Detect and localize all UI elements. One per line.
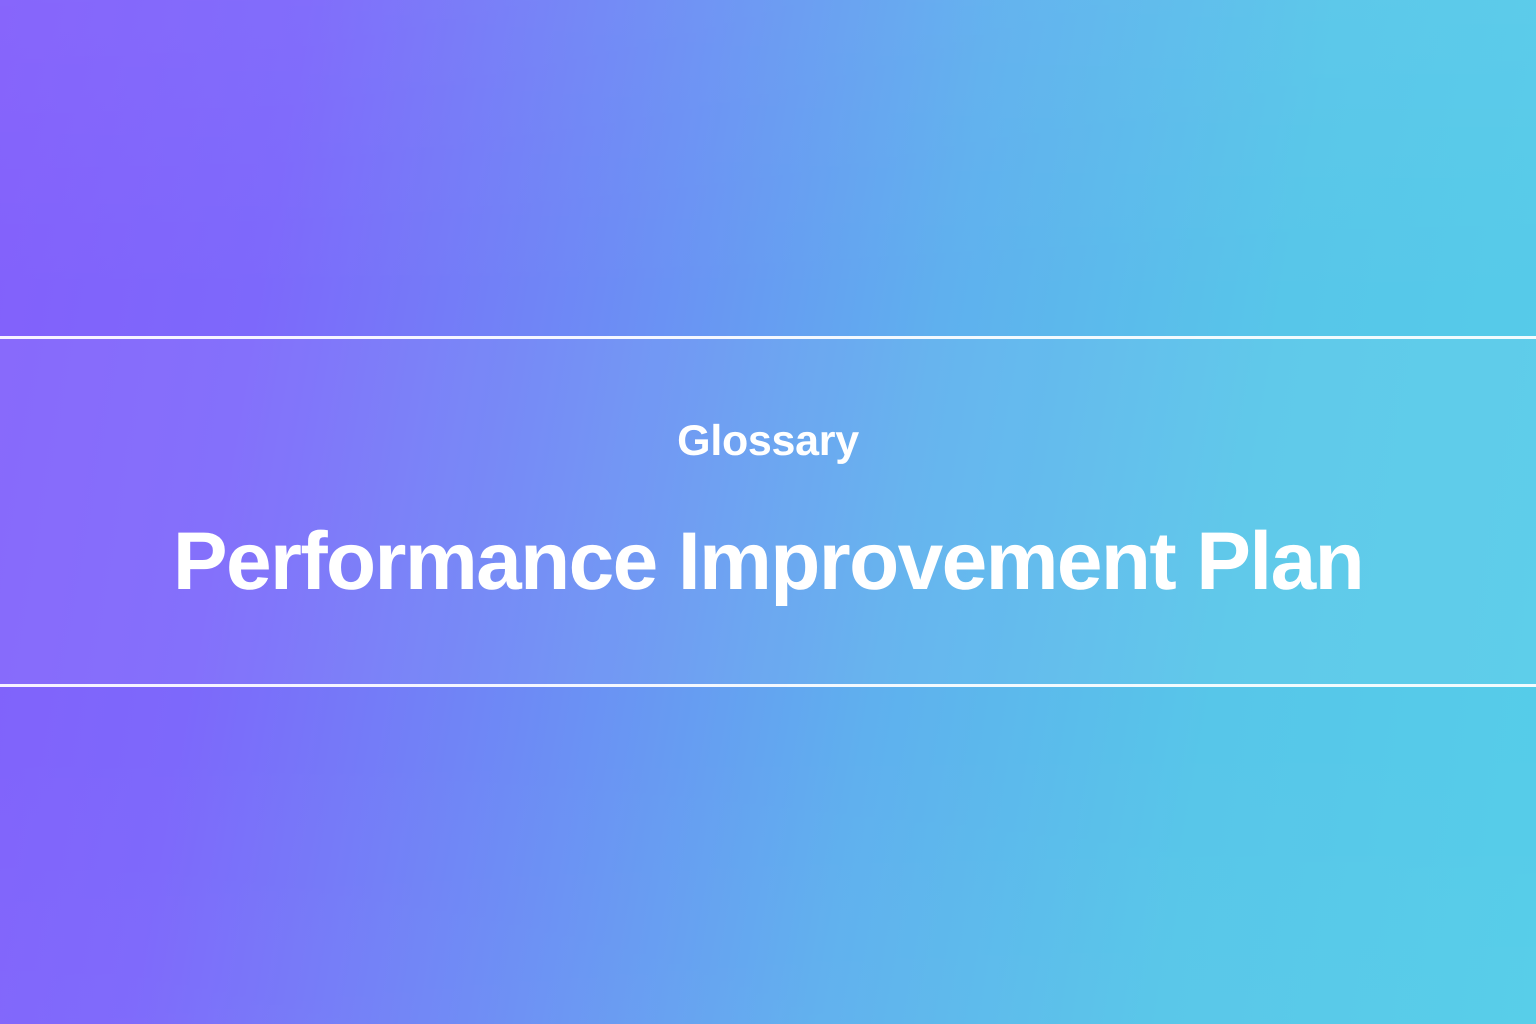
page-eyebrow: Glossary <box>677 420 859 463</box>
circuit-node-icon <box>619 4 649 34</box>
circuit-node-icon <box>1241 101 1285 145</box>
circuit-node-icon <box>708 686 748 726</box>
hexagon-lattice <box>300 674 1068 1006</box>
glossary-hero-banner: Glossary Performance Improvement Plan <box>0 0 1536 1024</box>
circuit-node-icon <box>50 144 82 176</box>
top-trace-group <box>50 0 1536 336</box>
circuit-node-icon <box>1298 806 1326 834</box>
page-title: Performance Improvement Plan <box>173 521 1363 603</box>
circuit-node-icon <box>964 863 1000 899</box>
circuit-node-icon <box>768 141 800 173</box>
hero-content-band: Glossary Performance Improvement Plan <box>0 336 1536 687</box>
bottom-decor-group <box>0 674 1326 1024</box>
